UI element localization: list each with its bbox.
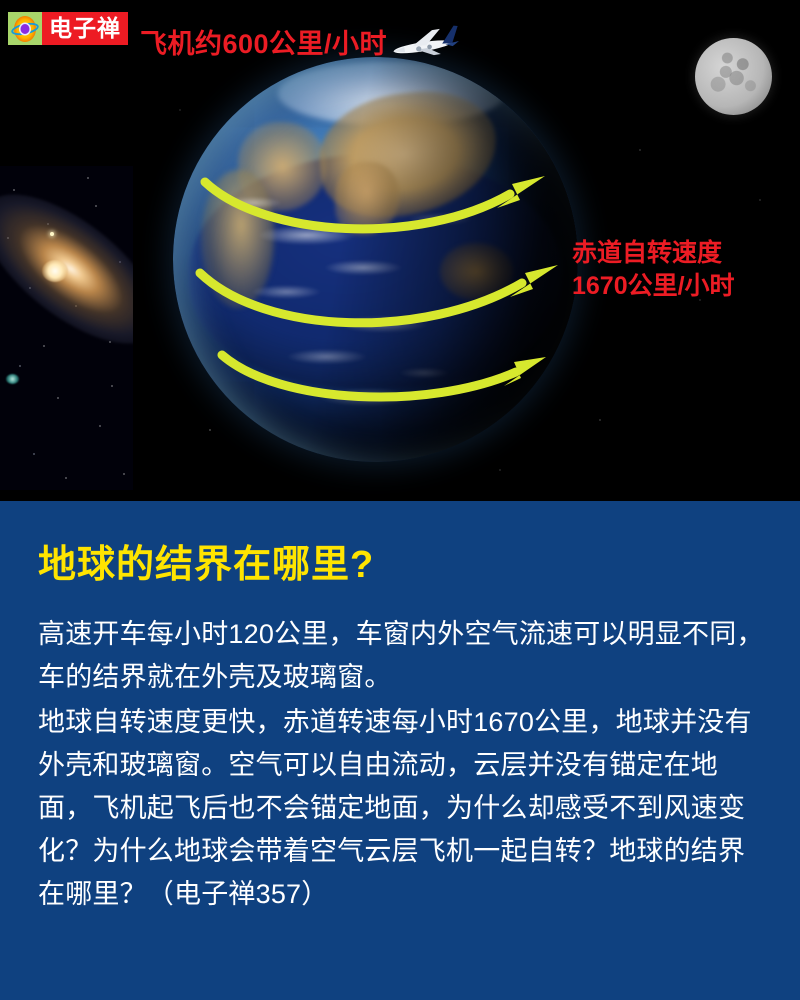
equator-speed-label-line2: 1670公里/小时 <box>572 270 735 303</box>
andromeda-galaxy-image <box>0 166 133 490</box>
airplane-image <box>382 25 460 63</box>
logo-nucleus <box>21 24 30 34</box>
earth-globe-image <box>173 57 578 462</box>
brand-logo[interactable]: 电子禅 <box>8 12 128 45</box>
moon-image <box>695 38 772 115</box>
article-paragraph-1: 高速开车每小时120公里，车窗内外空气流速可以明显不同，车的结界就在外壳及玻璃窗… <box>38 613 764 699</box>
article-panel: 地球的结界在哪里? 高速开车每小时120公里，车窗内外空气流速可以明显不同，车的… <box>0 501 800 1000</box>
page-title: 地球的结界在哪里? <box>38 545 764 587</box>
lotus-atom-logo-icon <box>8 12 42 45</box>
brand-logo-text: 电子禅 <box>42 12 128 45</box>
airplane-speed-label: 飞机约600公里/小时 <box>140 22 387 61</box>
hero-space-image: 电子禅 飞机约600公里/小时 赤道自转速度 1670公里/小时 <box>0 0 800 501</box>
article-paragraph-2: 地球自转速度更快，赤道转速每小时1670公里，地球并没有外壳和玻璃窗。空气可以自… <box>38 701 764 916</box>
bright-star <box>50 232 54 236</box>
galaxy-satellite <box>6 374 19 384</box>
poster-root: 电子禅 飞机约600公里/小时 赤道自转速度 1670公里/小时 地球的结界在哪… <box>0 0 800 1000</box>
galaxy-core <box>42 260 68 282</box>
equator-speed-label: 赤道自转速度 1670公里/小时 <box>572 237 735 303</box>
equator-speed-label-line1: 赤道自转速度 <box>572 237 735 270</box>
earth-night-terminator <box>173 57 578 462</box>
